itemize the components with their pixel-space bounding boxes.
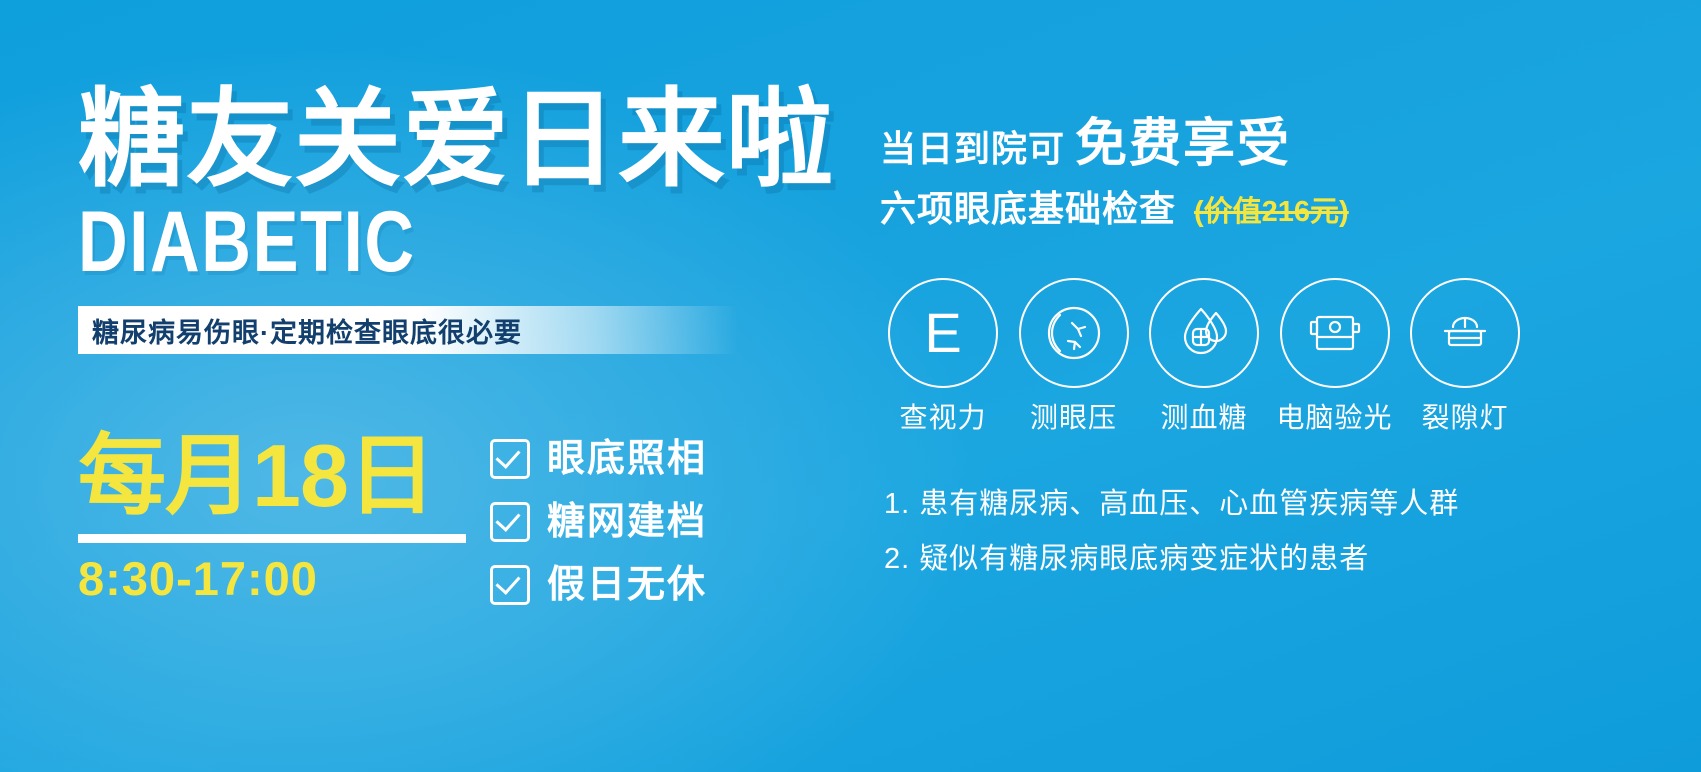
promo-lead-text: 当日到院可 (880, 120, 1065, 172)
tagline-text: 糖尿病易伤眼·定期检查眼底很必要 (78, 311, 522, 350)
checklist: 眼底照相 糖网建档 假日无休 (490, 436, 707, 625)
service-label: 电脑验光 (1276, 404, 1392, 432)
service-item-eye-pressure: 测眼压 (1015, 278, 1133, 432)
event-time: 8:30-17:00 (78, 555, 478, 602)
note-item: 1. 患有糖尿病、高血压、心血管疾病等人群 (884, 490, 1584, 519)
checklist-item-label: 眼底照相 (547, 440, 707, 478)
checkbox-checked-icon (490, 439, 530, 479)
service-item-vision-test: E 查视力 (884, 278, 1002, 432)
list-item: 假日无休 (490, 562, 707, 608)
eyeball-icon (1019, 278, 1129, 388)
blood-drop-cross-icon (1149, 278, 1259, 388)
eye-chart-letter-e-icon: E (888, 278, 998, 388)
service-item-autorefraction: 电脑验光 (1276, 278, 1394, 432)
promo-subject-text: 六项眼底基础检查 (880, 180, 1176, 232)
service-label: 测血糖 (1160, 404, 1247, 432)
eligibility-notes: 1. 患有糖尿病、高血压、心血管疾病等人群 2. 疑似有糖尿病眼底病变症状的患者 (884, 490, 1584, 600)
checklist-item-label: 假日无休 (547, 566, 707, 604)
event-date-block: 每月18日 8:30-17:00 (78, 432, 478, 602)
autorefractor-device-icon (1280, 278, 1390, 388)
checkbox-checked-icon (490, 502, 530, 542)
headline-english-subtitle: DIABETIC (78, 203, 718, 282)
promo-line-1: 当日到院可 免费享受 (880, 118, 1650, 172)
service-label: 裂隙灯 (1421, 404, 1508, 432)
promo-line-2: 六项眼底基础检查 (价值216元) (880, 180, 1650, 232)
service-label: 查视力 (899, 404, 986, 432)
promo-emphasis-text: 免费享受 (1075, 118, 1291, 170)
tagline-band: 糖尿病易伤眼·定期检查眼底很必要 (78, 306, 738, 354)
date-divider (78, 534, 466, 543)
checklist-item-label: 糖网建档 (547, 503, 707, 541)
event-date: 每月18日 (78, 432, 478, 520)
list-item: 眼底照相 (490, 436, 707, 482)
service-icon-row: E 查视力 测眼压 (884, 278, 1524, 432)
letter-e-glyph: E (924, 305, 961, 361)
note-item: 2. 疑似有糖尿病眼底病变症状的患者 (884, 545, 1584, 574)
slit-lamp-icon (1410, 278, 1520, 388)
page-title: 糖友关爱日来啦 (78, 86, 878, 193)
checkbox-checked-icon (490, 565, 530, 605)
service-item-slit-lamp: 裂隙灯 (1406, 278, 1524, 432)
promo-text-block: 当日到院可 免费享受 六项眼底基础检查 (价值216元) (880, 118, 1650, 232)
left-content-block: 糖友关爱日来啦 DIABETIC 糖尿病易伤眼·定期检查眼底很必要 (78, 86, 878, 354)
list-item: 糖网建档 (490, 499, 707, 545)
service-item-blood-glucose: 测血糖 (1145, 278, 1263, 432)
promo-original-price: (价值216元) (1194, 188, 1349, 230)
promo-banner: 糖友关爱日来啦 DIABETIC 糖尿病易伤眼·定期检查眼底很必要 每月18日 … (0, 0, 1701, 772)
service-label: 测眼压 (1030, 404, 1117, 432)
